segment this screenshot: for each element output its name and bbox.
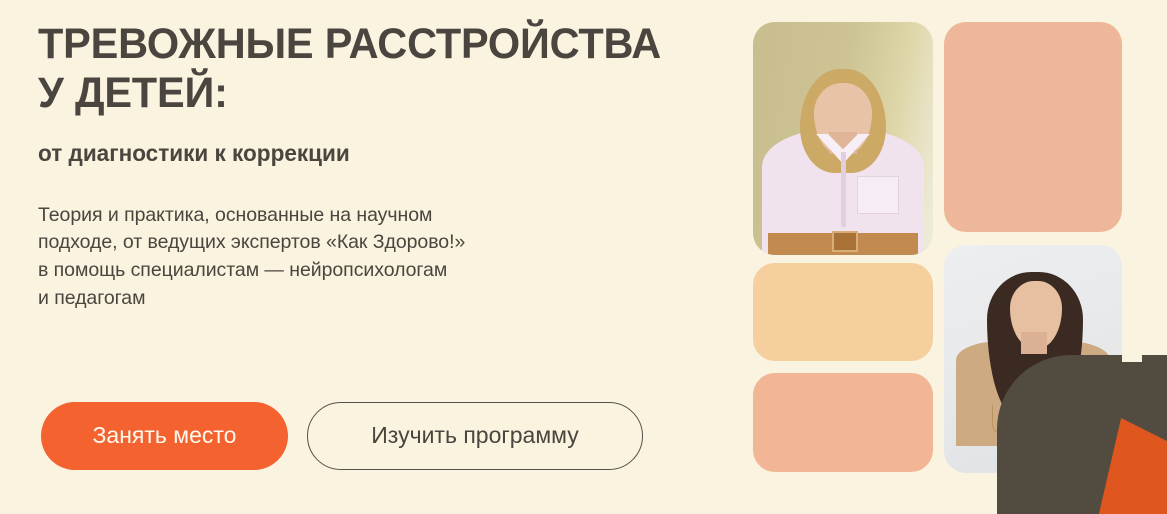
promo-banner: ТРЕВОЖНЫЕ РАССТРОЙСТВА У ДЕТЕЙ: от диагн… [0, 0, 1167, 514]
neck-shape [1021, 332, 1047, 354]
view-program-button[interactable]: Изучить программу [307, 402, 643, 470]
peach-block [944, 22, 1122, 232]
yellow-block [753, 263, 933, 361]
salmon-block [753, 373, 933, 472]
hero-content: ТРЕВОЖНЫЕ РАССТРОЙСТВА У ДЕТЕЙ: от диагн… [38, 20, 728, 312]
cta-group: Занять место Изучить программу [41, 402, 643, 470]
hero-description: Теория и практика, основанные на научном… [38, 202, 728, 313]
decor-notch [1122, 340, 1142, 362]
person-illustration [753, 22, 933, 255]
buckle-shape [832, 231, 858, 252]
page-subtitle: от диагностики к коррекции [38, 140, 714, 168]
expert-photo-blonde [753, 22, 933, 255]
page-title: ТРЕВОЖНЫЕ РАССТРОЙСТВА У ДЕТЕЙ: [38, 20, 704, 118]
book-seat-button[interactable]: Занять место [41, 402, 288, 470]
pocket-shape [857, 176, 899, 214]
placket-shape [841, 152, 846, 227]
